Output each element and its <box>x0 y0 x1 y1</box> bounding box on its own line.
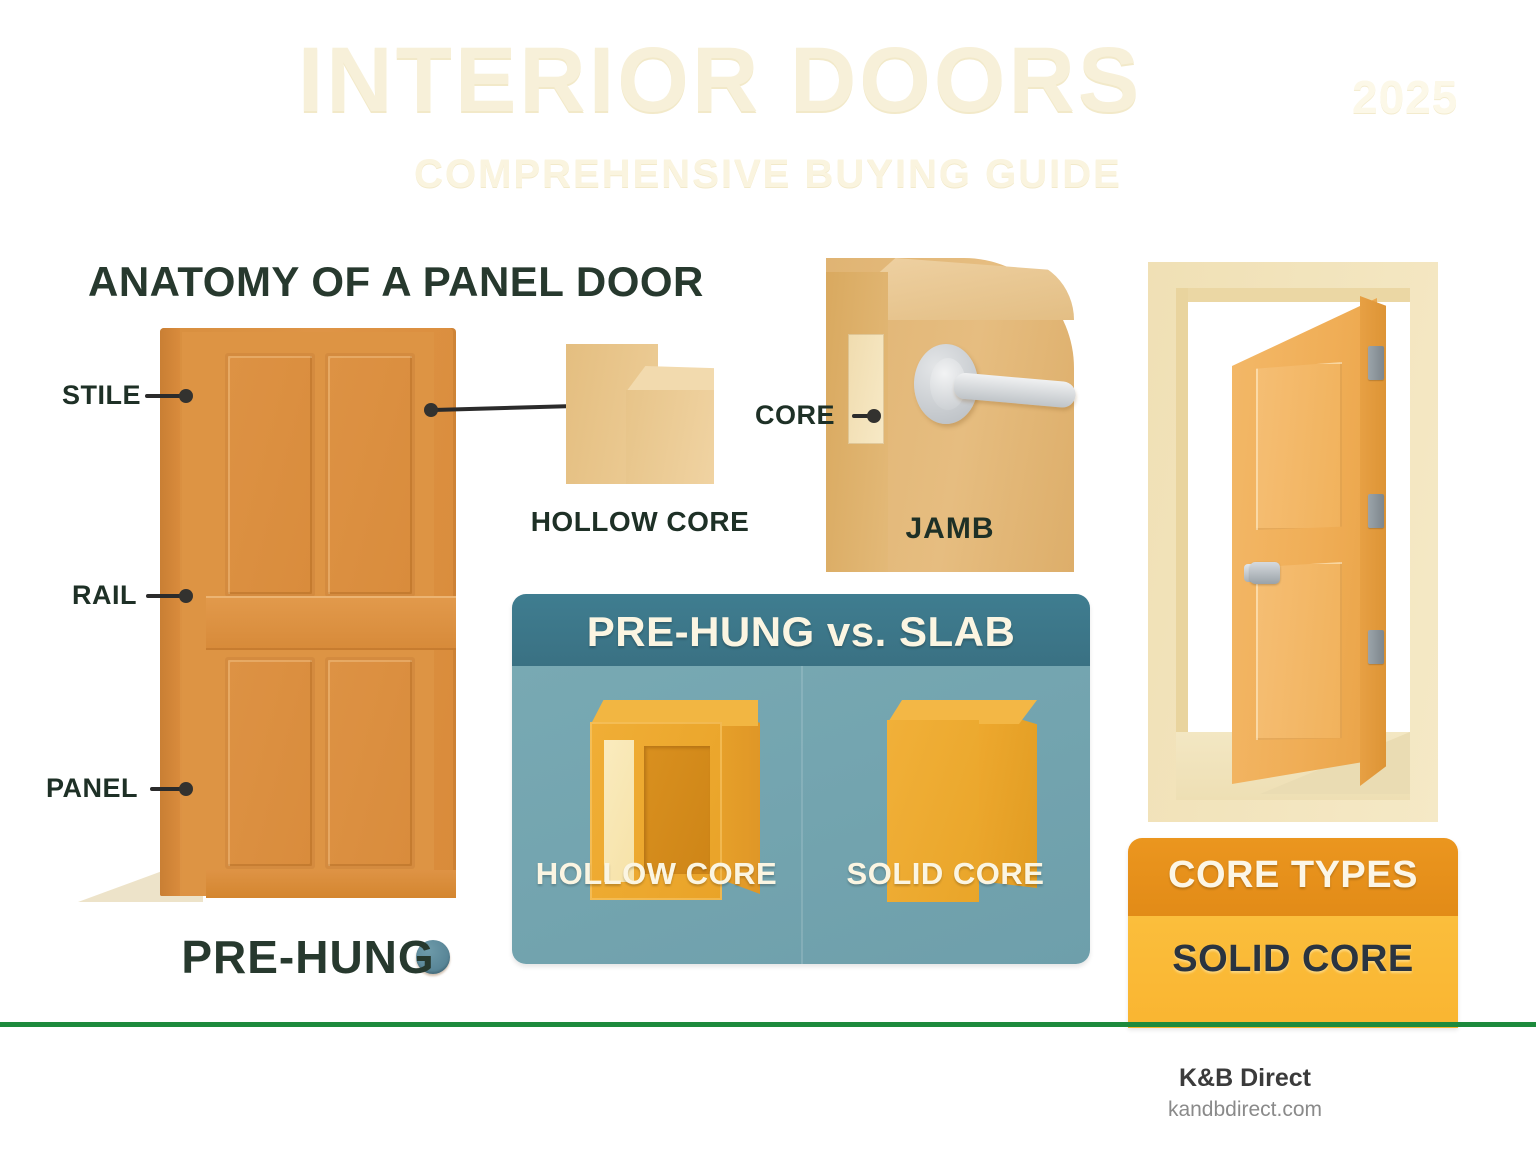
hollow-core-3d-recess <box>644 746 710 874</box>
hollow-core-front-face <box>626 390 714 484</box>
hollow-core-block-illustration <box>566 344 714 484</box>
open-door-handle-icon <box>1250 562 1280 584</box>
core-types-value: SOLID CORE <box>1128 938 1458 981</box>
door-panel-upper-right <box>328 356 412 594</box>
door-mid-rail <box>206 596 456 650</box>
hollow-core-block-caption: HOLLOW CORE <box>500 506 780 538</box>
door-bottom-rail <box>206 870 456 898</box>
leader-dot-panel <box>179 782 193 796</box>
door-panel-lower-left <box>228 660 312 866</box>
door-inner-face <box>182 332 434 892</box>
footer-divider <box>0 1022 1536 1027</box>
compare-caption-solid-core: SOLID CORE <box>801 856 1090 892</box>
door-panel-lower-right <box>328 660 412 866</box>
door-hinge-icon-top <box>1368 346 1384 380</box>
callout-label-core: CORE <box>755 400 835 431</box>
panel-door-illustration <box>160 328 456 896</box>
door-hinge-icon-middle <box>1368 494 1384 528</box>
callout-label-stile: STILE <box>62 380 141 411</box>
callout-label-panel: PANEL <box>46 773 138 804</box>
compare-card: HOLLOW CORE SOLID CORE PRE-HUNG vs. SLAB <box>512 594 1090 964</box>
core-types-card-header: CORE TYPES <box>1128 838 1458 916</box>
compare-caption-hollow-core: HOLLOW CORE <box>512 856 801 892</box>
callout-label-rail: RAIL <box>72 580 137 611</box>
door-hinge-icon-bottom <box>1368 630 1384 664</box>
page-title: INTERIOR DOORS <box>0 34 1440 126</box>
core-types-card-body: SOLID CORE <box>1128 916 1458 1028</box>
footer-brand: K&B Direct <box>1090 1064 1400 1093</box>
compare-card-title: PRE-HUNG vs. SLAB <box>512 608 1090 656</box>
infographic-canvas: INTERIOR DOORS 2025 COMPREHENSIVE BUYING… <box>0 0 1536 1154</box>
leader-dot-rail <box>179 589 193 603</box>
year-badge: 2025 <box>1352 70 1458 124</box>
jamb-caption: JAMB <box>826 512 1074 546</box>
leader-dot-stile <box>179 389 193 403</box>
core-types-card-title: CORE TYPES <box>1128 854 1458 897</box>
open-door-panel-top <box>1256 362 1342 530</box>
jamb-strike-plate <box>848 334 884 444</box>
door-frame-left-jamb <box>1176 288 1188 800</box>
header-band: INTERIOR DOORS 2025 COMPREHENSIVE BUYING… <box>0 0 1536 215</box>
compare-card-divider <box>801 666 803 964</box>
page-subtitle: COMPREHENSIVE BUYING GUIDE <box>0 152 1536 197</box>
anatomy-section-heading: ANATOMY OF A PANEL DOOR <box>88 258 704 306</box>
prehung-caption: PRE-HUNG <box>160 930 456 984</box>
door-panel-upper-left <box>228 356 312 594</box>
leader-dot-door-side <box>424 403 438 417</box>
prehung-open-door-illustration <box>1148 262 1438 822</box>
core-types-card: SOLID CORE CORE TYPES <box>1128 838 1458 1028</box>
footer-url: kandbdirect.com <box>1090 1098 1400 1122</box>
door-stile-left-edge <box>160 328 180 896</box>
open-door-panel-bottom <box>1256 562 1342 740</box>
leader-dot-core <box>867 409 881 423</box>
